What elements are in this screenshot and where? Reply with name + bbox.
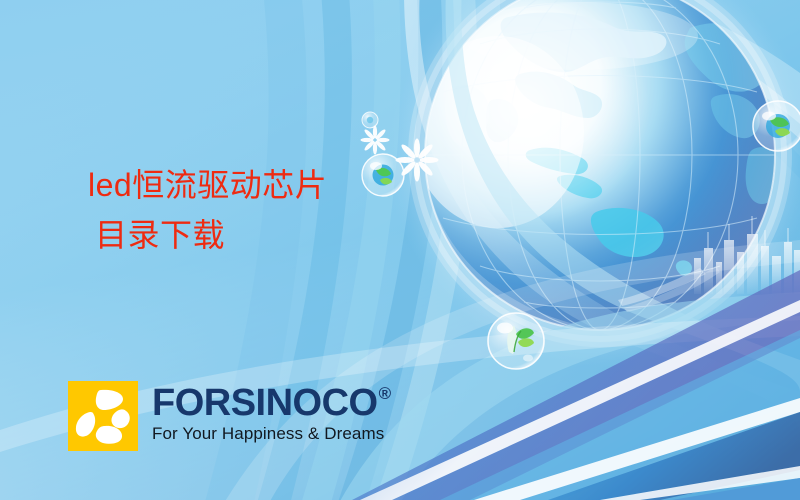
bubble-leaf-lower [488, 313, 544, 369]
logo-text-block: FORSINOCO ® For Your Happiness & Dreams [152, 381, 391, 444]
bubble-small-top [362, 112, 378, 128]
company-logo: FORSINOCO ® For Your Happiness & Dreams [68, 381, 391, 451]
promo-banner: led恒流驱动芯片 目录下载 FORSINOCO ® For Your Happ… [0, 0, 800, 500]
registered-trademark-symbol: ® [379, 385, 391, 402]
bubble-right-edge [753, 101, 800, 151]
bubble-globe-mid [362, 154, 404, 196]
logo-mark-tile [68, 381, 138, 451]
logo-wordmark-row: FORSINOCO ® [152, 383, 391, 423]
pinwheel-flower-icon [68, 381, 138, 451]
logo-tagline: For Your Happiness & Dreams [152, 424, 391, 444]
logo-wordmark: FORSINOCO [152, 383, 378, 423]
